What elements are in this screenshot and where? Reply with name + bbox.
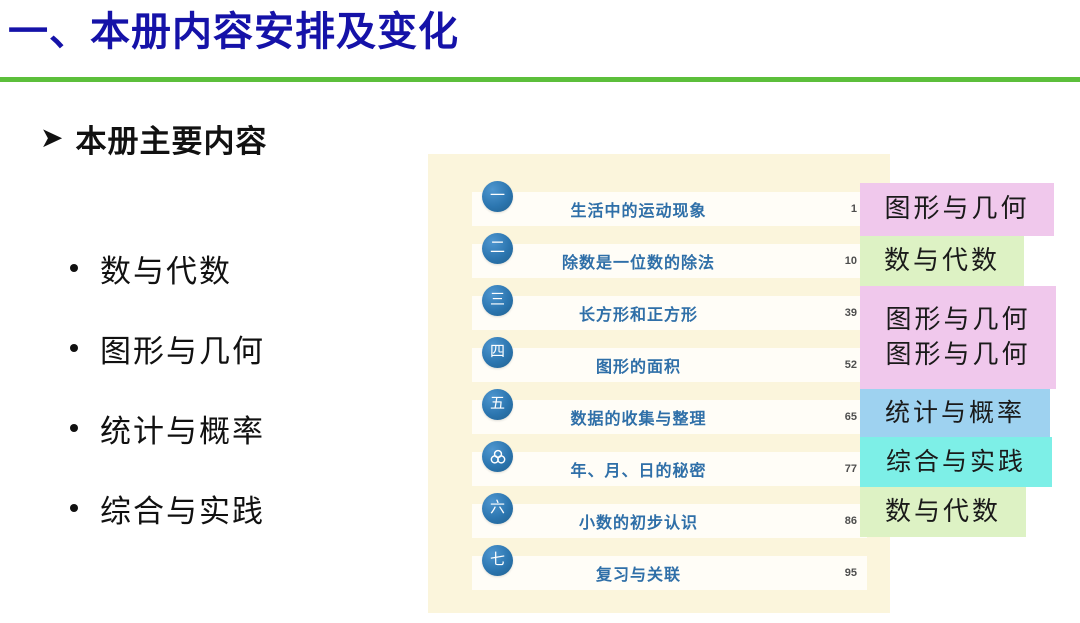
title-divider-rule — [0, 77, 1080, 82]
toc-chapter-title: 生活中的运动现象 — [472, 197, 867, 221]
toc-page-number: 52 — [845, 359, 857, 371]
toc-chapter-title: 数据的收集与整理 — [472, 405, 867, 429]
toc-row[interactable]: 三长方形和正方形39 — [472, 296, 867, 330]
topic-bullet-label: 统计与概率 — [100, 406, 265, 451]
left-content-column: ➤ 本册主要内容 数与代数图形与几何统计与概率综合与实践 — [0, 100, 420, 620]
domain-label-text: 综合与实践 — [886, 446, 1026, 479]
toc-row-list: 一生活中的运动现象1二除数是一位数的除法10三长方形和正方形39四图形的面积52… — [428, 154, 890, 613]
toc-row[interactable]: 六小数的初步认识86 — [472, 504, 867, 538]
domain-label-text: 统计与概率 — [885, 397, 1025, 430]
toc-page-number: 77 — [845, 463, 857, 475]
domain-label: 数与代数 — [860, 236, 1024, 286]
topic-bullet-item: 统计与概率 — [70, 388, 410, 468]
subheading-label: 本册主要内容 — [75, 116, 267, 161]
domain-label-column: 图形与几何数与代数图形与几何图形与几何统计与概率综合与实践数与代数 — [860, 150, 1060, 570]
toc-page-number: 1 — [851, 203, 857, 215]
toc-row[interactable]: 二除数是一位数的除法10 — [472, 244, 867, 278]
topic-bullet-item: 图形与几何 — [70, 308, 410, 388]
toc-chapter-title: 年、月、日的秘密 — [472, 457, 867, 481]
toc-chapter-title: 小数的初步认识 — [472, 509, 867, 533]
toc-row[interactable]: 年、月、日的秘密77 — [472, 452, 867, 486]
toc-row[interactable]: 四图形的面积52 — [472, 348, 867, 382]
toc-chapter-title: 图形的面积 — [472, 353, 867, 377]
toc-page-number: 10 — [845, 255, 857, 267]
page-title: 一、本册内容安排及变化 — [8, 8, 459, 56]
toc-chapter-title: 除数是一位数的除法 — [472, 249, 867, 273]
topic-bullet-item: 数与代数 — [70, 228, 410, 308]
toc-row[interactable]: 五数据的收集与整理65 — [472, 400, 867, 434]
domain-label: 统计与概率 — [860, 389, 1050, 437]
toc-row[interactable]: 一生活中的运动现象1 — [472, 192, 867, 226]
domain-label: 图形与几何图形与几何 — [860, 286, 1056, 389]
bullet-dot-icon — [70, 344, 78, 352]
topic-bullet-item: 综合与实践 — [70, 468, 410, 548]
toc-page-number: 95 — [845, 567, 857, 579]
topic-bullet-list: 数与代数图形与几何统计与概率综合与实践 — [70, 228, 410, 548]
toc-row[interactable]: 七复习与关联95 — [472, 556, 867, 590]
bullet-dot-icon — [70, 264, 78, 272]
subheading-row: ➤ 本册主要内容 — [40, 116, 267, 161]
domain-label-text: 图形与几何 — [885, 303, 1030, 337]
topic-bullet-label: 综合与实践 — [100, 486, 265, 531]
domain-label: 综合与实践 — [860, 437, 1052, 487]
topic-bullet-label: 图形与几何 — [100, 326, 265, 371]
toc-page-number: 86 — [845, 515, 857, 527]
bullet-dot-icon — [70, 424, 78, 432]
toc-chapter-title: 复习与关联 — [472, 561, 867, 585]
domain-label-text: 数与代数 — [885, 495, 1001, 529]
toc-panel: 一生活中的运动现象1二除数是一位数的除法10三长方形和正方形39四图形的面积52… — [428, 154, 890, 613]
topic-bullet-label: 数与代数 — [100, 246, 232, 291]
arrow-bullet-icon: ➤ — [40, 124, 63, 152]
domain-label-text: 数与代数 — [884, 244, 1000, 278]
toc-page-number: 65 — [845, 411, 857, 423]
domain-label-text: 图形与几何 — [885, 338, 1030, 372]
domain-label-text: 图形与几何 — [884, 192, 1029, 226]
toc-page-number: 39 — [845, 307, 857, 319]
domain-label: 图形与几何 — [860, 183, 1054, 236]
toc-chapter-title: 长方形和正方形 — [472, 301, 867, 325]
bullet-dot-icon — [70, 504, 78, 512]
domain-label: 数与代数 — [860, 487, 1026, 537]
